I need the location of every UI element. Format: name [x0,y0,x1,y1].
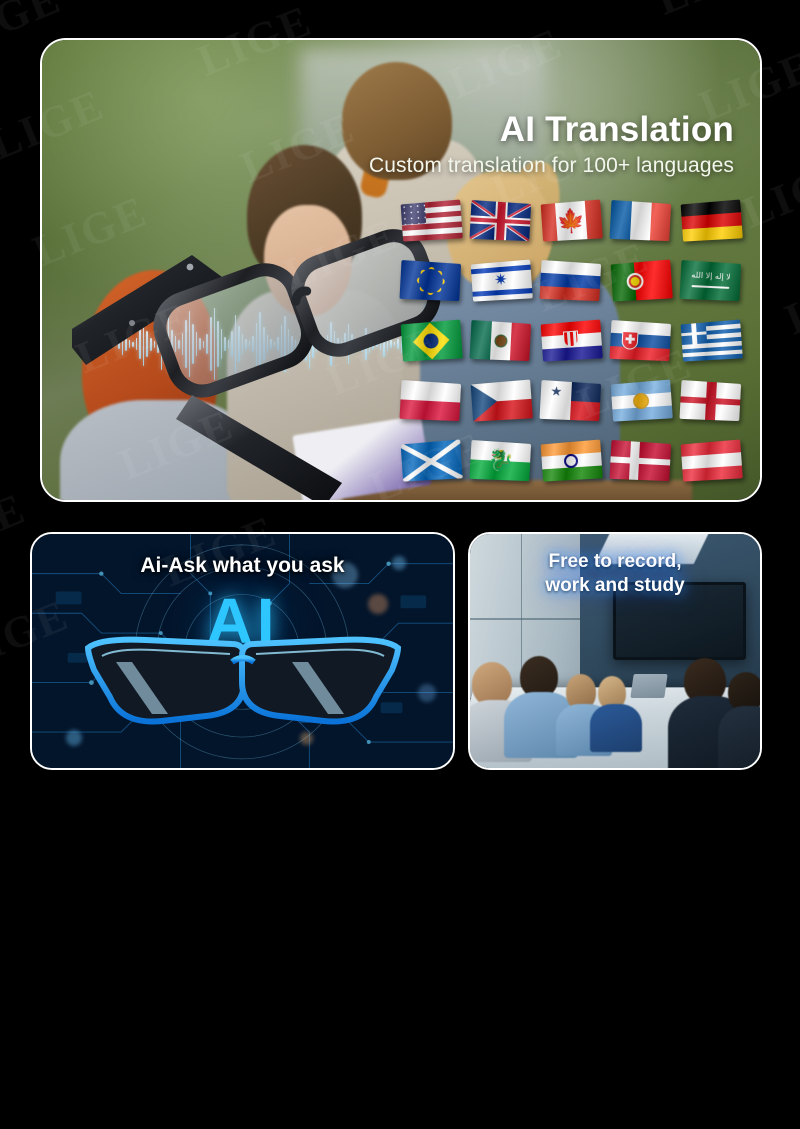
caption-line-2: work and study [545,575,684,596]
mexico-flag-icon [469,320,531,361]
bokeh-light [418,684,436,702]
flag-hr [536,312,606,370]
england-flag-icon [679,380,741,421]
germany-flag-icon [681,199,743,241]
watermark-text: LIGE [0,220,8,411]
flag-cz [466,372,536,430]
flag-ru [536,252,606,310]
flag-uk [466,192,536,250]
greece-flag-icon [681,319,743,361]
flag-il: ✷ [466,252,536,310]
brazil-flag-icon [401,319,463,361]
flag-pt [606,252,676,310]
france-flag-icon [609,200,671,241]
slovakia-flag-icon: ✚ [609,320,671,361]
ai-panel-caption: Ai-Ask what you ask [32,554,453,578]
laptop [631,674,668,698]
saudi-arabia-flag-icon: لا إله إلا الله [679,260,741,301]
hero-headline: AI Translation Custom translation for 10… [369,112,734,178]
hero-subtitle: Custom translation for 100+ languages [369,154,734,178]
argentina-flag-icon [611,379,673,421]
flag-br [396,312,466,370]
watermark-text: LIGE [86,0,337,29]
supported-language-flags: 🍁✷لا إله إلا الله✚★★🐉 [396,192,746,490]
india-flag-icon [541,439,603,481]
croatia-flag-icon [541,319,603,361]
hero-title: AI Translation [369,112,734,149]
flag-fr [606,192,676,250]
panel-free-to-record: Free to record, work and study [468,532,762,770]
portugal-flag-icon [611,259,673,301]
flag-de [676,192,746,250]
poland-flag-icon [399,380,461,421]
bokeh-light [368,594,388,614]
russia-flag-icon [539,260,601,301]
wales-flag-icon: 🐉 [469,440,531,481]
flag-sk: ✚ [606,312,676,370]
panel-ai-ask: AI Ai-Ask what you ask [30,532,455,770]
flag-pa: ★★ [536,372,606,430]
flag-gr [676,312,746,370]
flag-en [676,372,746,430]
flag-eu [396,252,466,310]
denmark-flag-icon [609,440,671,481]
flag-sct [396,432,466,490]
flag-sa: لا إله إلا الله [676,252,746,310]
neon-glasses-graphic [78,622,408,752]
czech-republic-flag-icon [471,379,533,421]
european-union-flag-icon [399,260,461,301]
flag-pl [396,372,466,430]
united-kingdom-flag-icon [469,200,531,241]
flag-wls: 🐉 [466,432,536,490]
meeting-panel-caption: Free to record, work and study [470,550,760,598]
israel-flag-icon: ✷ [471,259,533,301]
caption-line-1: Free to record, [548,551,681,572]
flag-us [396,192,466,250]
flag-mx [466,312,536,370]
flag-ca: 🍁 [536,192,606,250]
panel-ai-translation: AI Translation Custom translation for 10… [40,38,762,502]
united-states-flag-icon [401,199,463,241]
flag-ar [606,372,676,430]
panama-flag-icon: ★★ [539,380,601,421]
scotland-flag-icon [401,439,463,481]
flag-dk [606,432,676,490]
austria-flag-icon [681,439,743,481]
flag-at [676,432,746,490]
canada-flag-icon: 🍁 [541,199,603,241]
flag-in [536,432,606,490]
